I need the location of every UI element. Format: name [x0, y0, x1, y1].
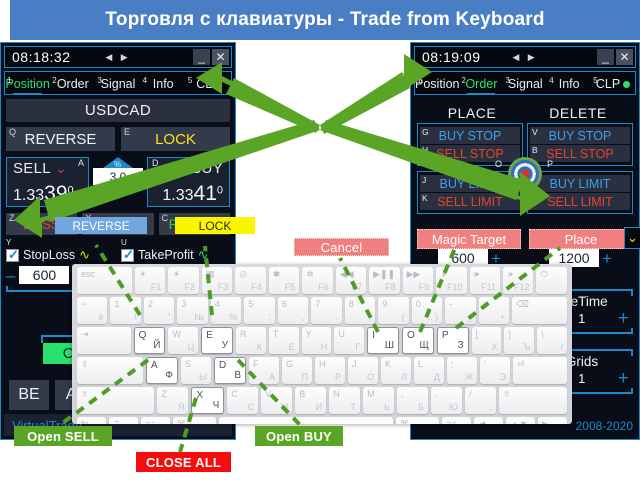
- key-cyrillic-label: ;: [369, 312, 372, 322]
- lock-tooltip: LOCK: [175, 217, 255, 234]
- key-cyrillic-label: Ъ: [523, 342, 530, 352]
- key-cyrillic-label: F5: [285, 282, 296, 292]
- key-v[interactable]: VМ: [261, 387, 292, 414]
- key-▶▶[interactable]: ▶▶F9: [403, 267, 433, 294]
- key-3[interactable]: 3№: [177, 297, 207, 324]
- key-latin-label: F: [253, 359, 259, 369]
- key-latin-label: ▶❚❚: [373, 269, 395, 280]
- key-l[interactable]: LД: [414, 357, 444, 384]
- keyboard-row: ⇧ZЯXЧCСVМBИNТMЬ,Б.Ю/.⇧: [72, 387, 572, 414]
- key-4[interactable]: 4%: [211, 297, 241, 324]
- key-latin-label: O: [407, 330, 415, 341]
- key-latin-label: G: [286, 359, 293, 369]
- key-⇪[interactable]: ⇪: [77, 357, 143, 384]
- key-/[interactable]: /.: [465, 387, 496, 414]
- key-cyrillic-label: F11: [481, 282, 496, 292]
- nav-prev-icon[interactable]: ◀: [512, 52, 522, 62]
- key-latin-label: 3: [181, 299, 186, 309]
- key-latin-label: X: [196, 390, 203, 401]
- key-☀[interactable]: ☀F1: [135, 267, 165, 294]
- key-▲▼[interactable]: ▲▼: [506, 417, 535, 424]
- key-latin-label: R: [240, 329, 247, 339]
- place-buy-limit-button[interactable]: J BUY LIMIT: [420, 175, 520, 192]
- hotkey-label: Z: [9, 213, 15, 223]
- callout-open-buy: Open BUY: [255, 426, 343, 446]
- tab-label: Signal: [508, 77, 543, 91]
- key-🕨[interactable]: 🕨F10: [436, 267, 466, 294]
- tab-clp[interactable]: 5 CLP: [186, 77, 231, 94]
- magic-target-button[interactable]: Magic Target: [417, 229, 521, 249]
- right-window-buttons: _ ✕: [597, 49, 633, 65]
- key-t[interactable]: TЕ: [269, 327, 299, 354]
- key-latin-label: 7: [315, 299, 320, 309]
- plus-icon[interactable]: +: [618, 369, 629, 388]
- key-cyrillic-label: F4: [251, 282, 262, 292]
- wave-icon: ∿: [198, 247, 209, 263]
- place-sell-limit-button[interactable]: K SELL LIMIT: [420, 193, 520, 210]
- hotkey-label: C: [162, 213, 169, 223]
- key-latin-label: K: [385, 359, 391, 369]
- key-latin-label: 6: [282, 299, 287, 309]
- key-c[interactable]: CС: [227, 387, 258, 414]
- close-icon[interactable]: ✕: [616, 49, 633, 65]
- key-w[interactable]: WЦ: [168, 327, 198, 354]
- key-latin-label: ⌘: [400, 419, 409, 424]
- key-cyrillic-label: П: [302, 372, 308, 382]
- reverse-button[interactable]: Q REVERSE: [6, 127, 115, 151]
- key-cyrillic-label: З: [458, 340, 464, 351]
- key-latin-label: ◀: [478, 419, 485, 424]
- hotkey-label: A: [78, 158, 84, 168]
- tab-signal[interactable]: 3 Signal: [503, 77, 547, 94]
- key-k[interactable]: KЛ: [381, 357, 411, 384]
- key-cyrillic-label: _: [467, 312, 472, 322]
- key-◎[interactable]: ◎F4: [235, 267, 265, 294]
- key-latin-label: I: [372, 330, 375, 341]
- key-n[interactable]: NТ: [329, 387, 360, 414]
- hotkey-label: M: [532, 193, 539, 203]
- key-latin-label: fn: [81, 419, 89, 424]
- key-⏎[interactable]: ⏎: [513, 357, 567, 384]
- hotkey-label: H: [422, 145, 428, 155]
- key-⌥[interactable]: ⌥: [141, 417, 170, 424]
- copyright-label: 2008-2020: [576, 419, 633, 433]
- nav-prev-icon[interactable]: ◀: [105, 52, 115, 62]
- keyboard-image[interactable]: esc☀F1☀F2▦F3◎F4✱F5✲F6◀◀F7▶❚❚F8▶▶F9🕨F10🕪F…: [72, 264, 572, 424]
- minimize-icon[interactable]: _: [193, 49, 210, 65]
- key-5[interactable]: 5:: [244, 297, 274, 324]
- key-latin-label: 🕪: [474, 269, 480, 280]
- delete-sell-stop-button[interactable]: B SELL STOP: [530, 145, 630, 162]
- lock-button[interactable]: E LOCK: [121, 127, 230, 151]
- key-latin-label: S: [185, 359, 191, 369]
- stoploss-checkbox[interactable]: [6, 249, 19, 262]
- key-latin-label: M: [367, 389, 375, 399]
- key-cyrillic-label: Т: [351, 402, 357, 412]
- hotkey-label: O: [495, 159, 502, 169]
- left-panel-nav[interactable]: ◀ ▶: [105, 52, 130, 63]
- key-0[interactable]: 0): [412, 297, 442, 324]
- button-label: BUY LIMIT: [550, 177, 611, 191]
- key-latin-label: V: [265, 389, 271, 399]
- tab-label: Order: [465, 77, 497, 91]
- symbol-label: USDCAD: [6, 99, 230, 122]
- buy-price-prefix: 1.33: [162, 187, 193, 204]
- key-cyrillic-label: .: [335, 312, 338, 322]
- hotkey-label: J: [422, 175, 426, 185]
- key-\[interactable]: \/: [537, 327, 567, 354]
- key-a[interactable]: AФ: [146, 357, 178, 384]
- key-latin-label: ⏻: [540, 269, 547, 280]
- key-latin-label: ▶▶: [407, 269, 421, 280]
- tab-order[interactable]: 2 Order: [459, 77, 503, 94]
- key-cyrillic-label: С: [248, 402, 255, 412]
- lot-value[interactable]: 3.0: [93, 168, 143, 185]
- key-latin-label: \: [541, 329, 544, 339]
- lifetime-value[interactable]: 1: [578, 311, 585, 326]
- key-h[interactable]: HР: [315, 357, 345, 384]
- key-cyrillic-label: :: [268, 312, 271, 322]
- button-label: SELL LIMIT: [547, 195, 613, 209]
- key-r[interactable]: RК: [236, 327, 266, 354]
- key-cyrillic-label: F12: [514, 282, 530, 292]
- minimize-icon[interactable]: _: [597, 49, 614, 65]
- key-s[interactable]: SЫ: [181, 357, 211, 384]
- stoploss-header[interactable]: StopLoss ∿: [6, 247, 115, 263]
- key-latin-label: [: [476, 329, 479, 339]
- target-icon[interactable]: [508, 157, 542, 191]
- key-latin-label: P: [442, 330, 449, 341]
- right-panel-titlebar: 08:19:09 ◀ ▶ _ ✕: [414, 46, 636, 68]
- key-cyrillic-label: ): [435, 312, 438, 322]
- key-latin-label: ⇧: [503, 389, 511, 400]
- key-🕩[interactable]: 🕩F12: [503, 267, 533, 294]
- tab-number: 3: [505, 76, 509, 85]
- button-label: LOCK: [155, 131, 196, 148]
- key-cyrillic-label: И: [316, 402, 322, 412]
- key-latin-label: N: [333, 389, 340, 399]
- key-latin-label: /: [469, 389, 472, 399]
- page-title: Торговля с клавиатуры - Trade from Keybo…: [10, 0, 640, 40]
- key-'[interactable]: 'Э: [480, 357, 510, 384]
- key-cyrillic-label: ": [167, 312, 170, 322]
- key-latin-label: =: [483, 299, 488, 309]
- key-⏻[interactable]: ⏻: [536, 267, 566, 294]
- key-2[interactable]: 2": [144, 297, 174, 324]
- callout-open-sell: Open SELL: [14, 426, 112, 446]
- key-;[interactable]: ;Ж: [447, 357, 477, 384]
- hotkey-label: Q: [9, 127, 16, 137]
- key-cyrillic-label: ,: [302, 312, 305, 322]
- buy-price: 1.33410: [154, 182, 223, 206]
- key-cyrillic-label: F10: [447, 282, 463, 292]
- grids-value[interactable]: 1: [578, 371, 585, 386]
- key-latin-label: H: [319, 359, 326, 369]
- key-latin-label: ~: [81, 299, 86, 309]
- key-latin-label: B: [299, 389, 305, 399]
- key--[interactable]: -_: [445, 297, 475, 324]
- tab-info[interactable]: 4 Info: [141, 77, 186, 94]
- key-▦[interactable]: ▦F3: [202, 267, 232, 294]
- place-column: G BUY STOP H SELL STOP J BUY LIMIT K: [417, 123, 523, 219]
- sell-price-prefix: 1.33: [13, 187, 44, 204]
- chevron-down-icon[interactable]: ⌄: [624, 227, 640, 249]
- key-[[interactable]: [Х: [472, 327, 502, 354]
- right-panel-tabs: 1 Position 2 Order 3 Signal 4 Info 5 CLP: [414, 71, 636, 95]
- key-latin-label: E: [206, 330, 213, 341]
- order-buttons-grid: G BUY STOP H SELL STOP J BUY LIMIT K: [417, 123, 633, 219]
- key-m[interactable]: MЬ: [363, 387, 394, 414]
- key-cyrillic-label: !: [134, 312, 137, 322]
- key-u[interactable]: UГ: [334, 327, 364, 354]
- key-⌃[interactable]: ⌃: [109, 417, 138, 424]
- place-delete-headers: PLACE DELETE: [419, 105, 631, 121]
- hotkey-label: V: [532, 127, 538, 137]
- key-latin-label: ⇥: [81, 329, 89, 340]
- takeprofit-header[interactable]: TakeProfit ∿: [121, 247, 230, 263]
- plus-icon[interactable]: +: [602, 250, 612, 267]
- key-][interactable]: ]Ъ: [504, 327, 534, 354]
- percent-label: %: [114, 160, 121, 169]
- reverse-lock-row: Q REVERSE E LOCK: [6, 127, 230, 151]
- plus-icon[interactable]: +: [618, 309, 629, 328]
- key-latin-label: ⌥: [145, 419, 155, 424]
- key-cyrillic-label: Ь: [384, 402, 390, 412]
- left-window-buttons: _ ✕: [193, 49, 229, 65]
- left-panel-tabs: 1 Position 2 Order 3 Signal 4 Info 5 CLP: [4, 71, 232, 95]
- button-label: SELL STOP: [436, 147, 503, 161]
- key-latin-label: ▲▼: [510, 419, 528, 424]
- tab-label: CLP: [596, 77, 620, 91]
- key-g[interactable]: GП: [282, 357, 312, 384]
- key-☀[interactable]: ☀F2: [168, 267, 198, 294]
- key-⌘[interactable]: ⌘: [173, 417, 216, 424]
- sell-price-big: 39: [44, 182, 67, 205]
- takeprofit-label: TakeProfit: [138, 248, 194, 262]
- keyboard-row: ⇥QЙWЦEУRКTЕYНUГIШOЩPЗ[Х]Ъ\/: [72, 327, 572, 354]
- key-cyrillic-label: Ш: [385, 340, 394, 351]
- key-latin-label: ⏎: [517, 359, 525, 370]
- chevron-down-icon: ⌄: [55, 161, 66, 176]
- lot-stepper[interactable]: % 3.0: [92, 157, 144, 196]
- hotkey-label: P: [547, 159, 553, 169]
- key-b[interactable]: BИ: [295, 387, 326, 414]
- sell-price: 1.33390: [13, 182, 82, 206]
- keyboard-row: esc☀F1☀F2▦F3◎F4✱F5✲F6◀◀F7▶❚❚F8▶▶F9🕨F10🕪F…: [72, 267, 572, 294]
- key-latin-label: ⌫: [516, 299, 529, 310]
- buy-price-sup: 0: [217, 185, 223, 197]
- key-9[interactable]: 9(: [378, 297, 408, 324]
- quote-row: A SELL ⌄ 1.33390 % 3.0 D ⌄ BUY 1.33410: [6, 157, 230, 207]
- key-cyrillic-label: ё: [98, 312, 103, 322]
- wave-icon: ∿: [79, 247, 90, 263]
- place-limit-group: J BUY LIMIT K SELL LIMIT: [417, 171, 523, 214]
- key-cyrillic-label: /: [560, 342, 563, 352]
- callout-close-all: CLOSE ALL: [136, 452, 231, 472]
- key-d[interactable]: DВ: [214, 357, 246, 384]
- reverse-tooltip: REVERSE: [55, 217, 147, 234]
- lot-decrease-icon[interactable]: [103, 185, 133, 196]
- delete-buy-limit-button[interactable]: N BUY LIMIT: [530, 175, 630, 192]
- key-o[interactable]: OЩ: [402, 327, 434, 354]
- callout-cancel: Cancel: [294, 238, 389, 256]
- place-button[interactable]: Place: [529, 229, 633, 249]
- sell-quote-button[interactable]: A SELL ⌄ 1.33390: [6, 157, 89, 207]
- key-y[interactable]: YН: [302, 327, 332, 354]
- key-j[interactable]: JО: [348, 357, 378, 384]
- left-panel-clock: 08:18:32: [12, 49, 71, 65]
- hotkey-label: G: [422, 127, 429, 137]
- arrow-to-left-panel-top-body: [226, 78, 320, 133]
- delete-limit-group: N BUY LIMIT M SELL LIMIT: [527, 171, 633, 214]
- tab-number: 2: [461, 76, 465, 85]
- key-fn[interactable]: fn: [77, 417, 106, 424]
- key-latin-label: ✱: [273, 269, 281, 280]
- delete-header: DELETE: [525, 105, 631, 121]
- key-▶❚❚[interactable]: ▶❚❚F8: [369, 267, 399, 294]
- key-latin-label: A: [151, 360, 158, 371]
- key-x[interactable]: XЧ: [191, 387, 224, 414]
- key-⇥[interactable]: ⇥: [77, 327, 131, 354]
- key-latin-label: 9: [382, 299, 387, 309]
- buy-quote-button[interactable]: D ⌄ BUY 1.33410: [147, 157, 230, 207]
- tab-label: Signal: [101, 77, 136, 91]
- key-cyrillic-label: F2: [184, 282, 195, 292]
- place-buy-stop-button[interactable]: G BUY STOP: [420, 127, 520, 144]
- key-⇧[interactable]: ⇧: [77, 387, 154, 414]
- magic-place-row: Magic Target Place: [417, 229, 633, 249]
- key-latin-label: 0: [416, 299, 421, 309]
- key-cyrillic-label: Щ: [419, 340, 428, 351]
- key-cyrillic-label: Д: [434, 372, 440, 382]
- key-.[interactable]: .Ю: [431, 387, 462, 414]
- key-latin-label: 🕩: [507, 269, 513, 280]
- tab-signal[interactable]: 3 Signal: [95, 77, 140, 94]
- key-latin-label: ◀◀: [340, 269, 354, 280]
- key-cyrillic-label: №: [194, 312, 204, 322]
- tab-number: 2: [52, 76, 56, 85]
- tab-order[interactable]: 2 Order: [50, 77, 95, 94]
- key-latin-label: 2: [148, 299, 153, 309]
- key-⌘[interactable]: ⌘: [396, 417, 439, 424]
- key-cyrillic-label: Ю: [449, 402, 458, 412]
- hotkey-label: K: [422, 193, 428, 203]
- tab-number: 4: [143, 76, 147, 85]
- tab-number: 3: [97, 76, 101, 85]
- key-p[interactable]: PЗ: [437, 327, 469, 354]
- key-latin-label: 5: [248, 299, 253, 309]
- key-cyrillic-label: F1: [151, 282, 162, 292]
- takeprofit-checkbox[interactable]: [121, 249, 134, 262]
- tab-position[interactable]: 1 Position: [5, 77, 50, 94]
- tab-label: Info: [559, 77, 580, 91]
- key-latin-label: ☀: [172, 269, 180, 280]
- key-~[interactable]: ~ё: [77, 297, 107, 324]
- buy-price-big: 41: [194, 182, 217, 205]
- key-q[interactable]: QЙ: [134, 327, 166, 354]
- key-⇧[interactable]: ⇧: [499, 387, 567, 414]
- nav-next-icon[interactable]: ▶: [121, 52, 131, 62]
- button-label: BUY LIMIT: [440, 177, 501, 191]
- key-blank[interactable]: [219, 417, 393, 424]
- stoploss-value[interactable]: 600: [19, 266, 69, 284]
- key-latin-label: ': [484, 359, 486, 369]
- right-panel-nav[interactable]: ◀ ▶: [512, 52, 537, 63]
- left-panel-titlebar: 08:18:32 ◀ ▶ _ ✕: [4, 46, 232, 68]
- key-⌥[interactable]: ⌥: [442, 417, 471, 424]
- key-cyrillic-label: Б: [418, 402, 424, 412]
- key-cyrillic-label: Я: [178, 402, 185, 412]
- button-label: SELL LIMIT: [437, 195, 503, 209]
- arrow-to-right-panel-top-body: [320, 72, 410, 134]
- key-cyrillic-label: Ы: [199, 372, 207, 382]
- key-latin-label: 4: [215, 299, 220, 309]
- key-f[interactable]: FА: [249, 357, 279, 384]
- key-6[interactable]: 6,: [278, 297, 308, 324]
- close-icon[interactable]: ✕: [212, 49, 229, 65]
- key-latin-label: .: [435, 389, 438, 399]
- key-latin-label: ]: [508, 329, 511, 339]
- be-button[interactable]: BE: [9, 380, 49, 410]
- key-esc[interactable]: esc: [77, 267, 132, 294]
- key-◀[interactable]: ◀: [474, 417, 503, 424]
- key-,[interactable]: ,Б: [397, 387, 428, 414]
- tab-clp[interactable]: 5 CLP: [591, 77, 635, 94]
- key-cyrillic-label: О: [367, 372, 374, 382]
- key-⌫[interactable]: ⌫: [512, 297, 567, 324]
- key-🕪[interactable]: 🕪F11: [470, 267, 500, 294]
- delete-column: V BUY STOP B SELL STOP N BUY LIMIT M: [527, 123, 633, 219]
- key-✱[interactable]: ✱F5: [269, 267, 299, 294]
- lot-increase-icon[interactable]: %: [103, 157, 133, 168]
- key-=[interactable]: =+: [479, 297, 509, 324]
- key-▶[interactable]: ▶: [538, 417, 567, 424]
- key-latin-label: ▦: [206, 269, 215, 280]
- key-cyrillic-label: А: [269, 372, 275, 382]
- key-cyrillic-label: (: [402, 312, 405, 322]
- place-sell-stop-button[interactable]: H SELL STOP: [420, 145, 520, 162]
- place-header: PLACE: [419, 105, 525, 121]
- key-latin-label: 1: [114, 299, 119, 309]
- tab-label: CLP: [196, 77, 220, 91]
- tab-info[interactable]: 4 Info: [547, 77, 591, 94]
- tab-position[interactable]: 1 Position: [415, 77, 459, 94]
- key-7[interactable]: 7.: [311, 297, 341, 324]
- key-e[interactable]: EУ: [201, 327, 233, 354]
- minus-icon[interactable]: –: [6, 267, 15, 284]
- key-latin-label: ,: [401, 389, 404, 399]
- sell-price-sup: 0: [68, 185, 74, 197]
- keyboard-row: ~ё1!2"3№4%5:6,7.8;9(0)-_=+⌫: [72, 297, 572, 324]
- key-i[interactable]: IШ: [367, 327, 399, 354]
- stoploss-label: StopLoss: [23, 248, 75, 262]
- key-latin-label: ⌘: [177, 419, 186, 424]
- delete-buy-stop-button[interactable]: V BUY STOP: [530, 127, 630, 144]
- key-✲[interactable]: ✲F6: [302, 267, 332, 294]
- nav-next-icon[interactable]: ▶: [528, 52, 538, 62]
- delete-sell-limit-button[interactable]: M SELL LIMIT: [530, 193, 630, 210]
- key-cyrillic-label: Ж: [465, 372, 473, 382]
- key-latin-label: ✲: [306, 269, 314, 280]
- key-z[interactable]: ZЯ: [157, 387, 188, 414]
- key-latin-label: U: [338, 329, 345, 339]
- key-cyrillic-label: Ч: [213, 400, 220, 411]
- tab-label: Position: [415, 77, 459, 91]
- key-1[interactable]: 1!: [110, 297, 140, 324]
- key-8[interactable]: 8;: [345, 297, 375, 324]
- key-◀◀[interactable]: ◀◀F7: [336, 267, 366, 294]
- key-cyrillic-label: F8: [385, 282, 396, 292]
